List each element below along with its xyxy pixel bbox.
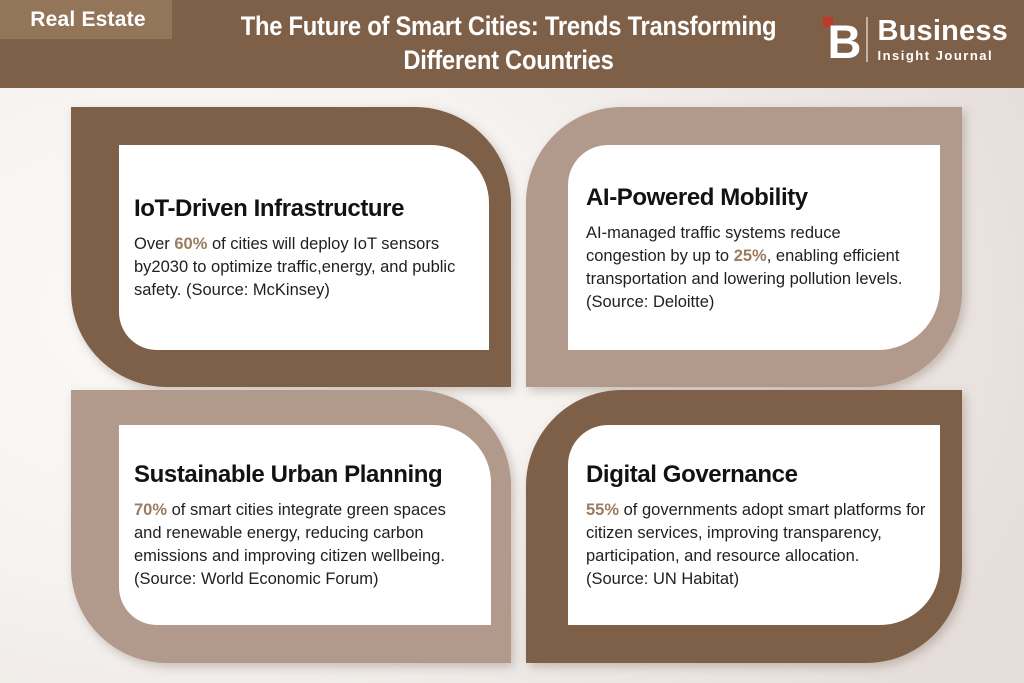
infographic-page: Real Estate The Future of Smart Cities: … bbox=[0, 0, 1024, 683]
card-body-suffix: of smart cities integrate green spaces a… bbox=[134, 501, 446, 588]
card-body-prefix: Over bbox=[134, 235, 174, 253]
card-stat-value: 60% bbox=[174, 235, 207, 253]
card-body: AI-managed traffic systems reduce conges… bbox=[586, 222, 924, 314]
brand-letter-b: B bbox=[827, 21, 860, 63]
card-body: 70% of smart cities integrate green spac… bbox=[134, 499, 477, 591]
card-stat-value: 70% bbox=[134, 501, 167, 519]
brand-tagline: Insight Journal bbox=[877, 49, 1008, 62]
card-panel: Digital Governance 55% of governments ad… bbox=[568, 425, 940, 625]
card-panel: AI-Powered Mobility AI-managed traffic s… bbox=[568, 145, 940, 350]
card-stat-value: 25% bbox=[734, 247, 767, 265]
card-panel: IoT-Driven Infrastructure Over 60% of ci… bbox=[119, 145, 489, 350]
trend-card-digital-governance: Digital Governance 55% of governments ad… bbox=[526, 390, 962, 663]
brand-text: Business Insight Journal bbox=[877, 17, 1008, 62]
card-body-suffix: of governments adopt smart platforms for… bbox=[586, 501, 925, 588]
brand-logo: B Business Insight Journal bbox=[823, 10, 1008, 68]
card-body: Over 60% of cities will deploy IoT senso… bbox=[134, 233, 473, 302]
trend-card-iot: IoT-Driven Infrastructure Over 60% of ci… bbox=[71, 107, 511, 387]
card-title: IoT-Driven Infrastructure bbox=[134, 193, 473, 224]
card-stat-value: 55% bbox=[586, 501, 619, 519]
card-body: 55% of governments adopt smart platforms… bbox=[586, 499, 926, 591]
card-title: Sustainable Urban Planning bbox=[134, 459, 477, 490]
trend-card-ai-mobility: AI-Powered Mobility AI-managed traffic s… bbox=[526, 107, 962, 387]
brand-name: Business bbox=[877, 17, 1008, 46]
card-title: AI-Powered Mobility bbox=[586, 182, 924, 213]
page-title: The Future of Smart Cities: Trends Trans… bbox=[234, 9, 784, 77]
trend-card-sustainable-urban-planning: Sustainable Urban Planning 70% of smart … bbox=[71, 390, 511, 663]
card-panel: Sustainable Urban Planning 70% of smart … bbox=[119, 425, 491, 625]
brand-mark-icon: B bbox=[823, 15, 857, 63]
header-bar: Real Estate The Future of Smart Cities: … bbox=[0, 0, 1024, 88]
category-badge-label: Real Estate bbox=[30, 8, 145, 32]
brand-divider bbox=[866, 17, 868, 62]
card-title: Digital Governance bbox=[586, 459, 926, 490]
category-badge: Real Estate bbox=[0, 0, 172, 39]
